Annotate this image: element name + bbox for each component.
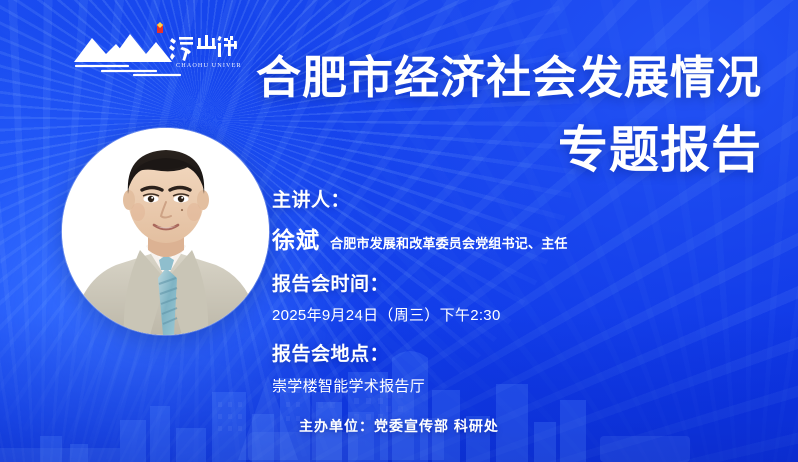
time-value: 2025年9月24日（周三）下午2:30 [272,304,742,325]
organizer-text: 主办单位：党委宣传部 科研处 [299,418,499,434]
place-label: 报告会地点： [272,342,742,368]
spacer [272,325,742,342]
speaker-title: 合肥市发展和改革委员会党组书记、主任 [330,233,568,252]
lecture-poster: CHAOHU UNIVERSITY 汤山讲坛 [0,0,798,462]
speaker-label: 主讲人： [272,188,742,214]
event-info: 主讲人： 徐斌 合肥市发展和改革委员会党组书记、主任 报告会时间： 2025年9… [272,188,742,396]
headline-line-1: 合肥市经济社会发展情况 [0,54,762,103]
speaker-name: 徐斌 [272,221,320,255]
spacer [272,255,742,272]
headline-line-2: 专题报告 [0,123,762,177]
time-label: 报告会时间： [272,272,742,298]
organizer-footer: 主办单位：党委宣传部 科研处 [0,416,798,436]
poster-headline: 合肥市经济社会发展情况 专题报告 [0,54,762,177]
torch-accent-icon [157,22,163,33]
place-value: 崇学楼智能学术报告厅 [272,375,742,396]
speaker-row: 徐斌 合肥市发展和改革委员会党组书记、主任 [272,221,742,255]
